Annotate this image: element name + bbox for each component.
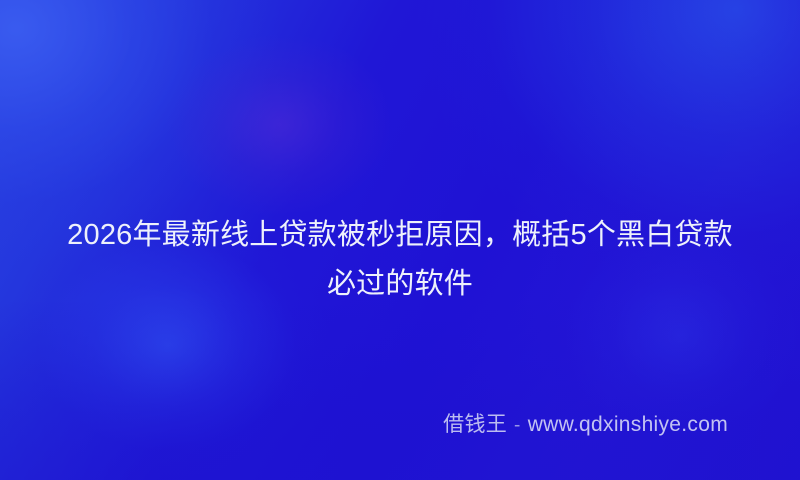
promo-banner: 2026年最新线上贷款被秒拒原因，概括5个黑白贷款必过的软件 借钱王 - www… — [0, 0, 800, 480]
watermark-separator: - — [514, 413, 521, 438]
watermark-brand: 借钱王 — [443, 412, 507, 437]
watermark: 借钱王 - www.qdxinshiye.com — [443, 412, 728, 438]
banner-headline: 2026年最新线上贷款被秒拒原因，概括5个黑白贷款必过的软件 — [0, 211, 800, 309]
watermark-url: www.qdxinshiye.com — [528, 412, 728, 437]
